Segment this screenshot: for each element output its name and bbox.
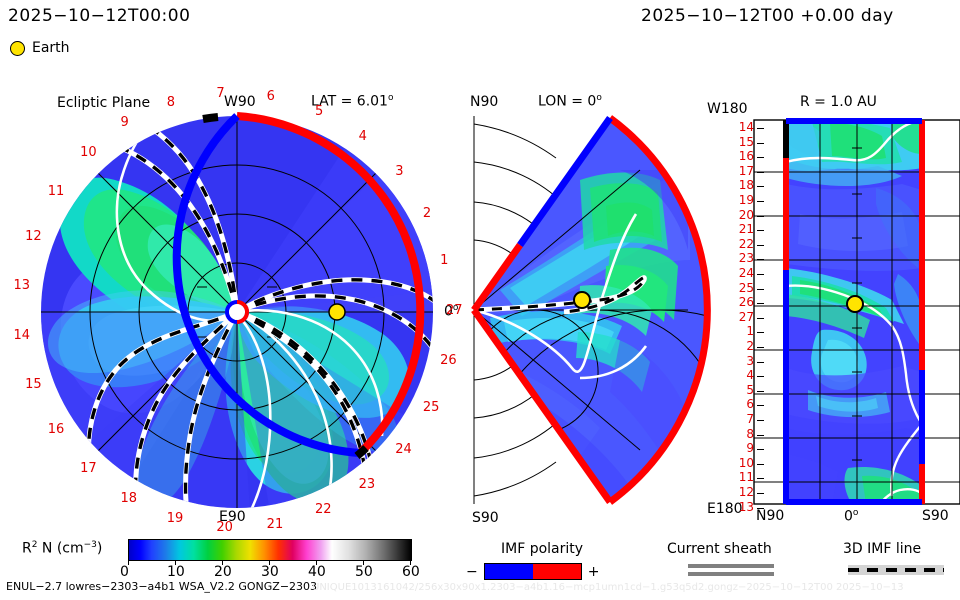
meridional-lon-text: LON = 0 bbox=[538, 94, 596, 110]
imf-minus-label: − bbox=[466, 564, 478, 580]
au-map-y-tick bbox=[757, 435, 764, 436]
ecliptic-plot bbox=[20, 100, 460, 520]
colorbar-tick-label-20: 20 bbox=[214, 564, 232, 580]
au-map-y-label-16: 16 bbox=[739, 149, 754, 163]
colorbar-label-r: R bbox=[22, 541, 32, 557]
ecliptic-rim-label-17: 17 bbox=[80, 461, 97, 476]
au-map-y-label-27: 27 bbox=[739, 310, 754, 324]
ecliptic-rim-label-14: 14 bbox=[13, 328, 30, 343]
ecliptic-rim-label-22: 22 bbox=[315, 502, 332, 517]
au-map-y-label-13: 13 bbox=[739, 500, 754, 514]
header-timestamp-left: 2025−10−12T00:00 bbox=[8, 6, 190, 26]
au-map-y-tick bbox=[757, 245, 764, 246]
au-map-y-label-14: 14 bbox=[739, 120, 754, 134]
colorbar-tick-label-60: 60 bbox=[402, 564, 420, 580]
au-map-y-tick bbox=[757, 362, 764, 363]
ecliptic-rim-label-18: 18 bbox=[121, 491, 138, 506]
ecliptic-rim-label-6: 6 bbox=[267, 89, 275, 104]
ecliptic-rim-label-15: 15 bbox=[25, 377, 42, 392]
ecliptic-rim-label-2: 2 bbox=[423, 206, 431, 221]
imf-plus-label: + bbox=[588, 564, 600, 580]
au-map-y-tick bbox=[757, 318, 764, 319]
meridional-plot bbox=[460, 110, 690, 510]
au-map-y-label-1: 1 bbox=[746, 324, 754, 338]
imf-polarity-legend: − + bbox=[466, 563, 599, 580]
imf-line-legend-dash bbox=[848, 568, 944, 572]
au-map-plot bbox=[752, 118, 960, 506]
earth-marker bbox=[847, 296, 863, 312]
ecliptic-rim-label-10: 10 bbox=[80, 145, 97, 160]
colorbar-tick-label-0: 0 bbox=[120, 564, 129, 580]
footer-model-string: ENUL−2.7 lowres−2303−a4b1 WSA_V2.2 GONGZ… bbox=[6, 580, 317, 593]
au-map-y-label-6: 6 bbox=[746, 397, 754, 411]
au-map-y-tick bbox=[757, 172, 764, 173]
current-sheath-legend-title: Current sheath bbox=[667, 541, 772, 557]
au-map-y-tick bbox=[757, 143, 764, 144]
au-map-y-label-22: 22 bbox=[739, 237, 754, 251]
au-map-y-label-4: 4 bbox=[746, 368, 754, 382]
au-map-y-tick bbox=[757, 493, 764, 494]
degree-sup: o bbox=[853, 508, 859, 518]
au-map-y-tick bbox=[757, 420, 764, 421]
au-map-y-label-26: 26 bbox=[739, 295, 754, 309]
ecliptic-rim-label-16: 16 bbox=[48, 422, 65, 437]
ecliptic-rim-label-21: 21 bbox=[267, 517, 284, 532]
ecliptic-rim-label-23: 23 bbox=[359, 477, 376, 492]
ecliptic-rim-label-20: 20 bbox=[216, 520, 233, 535]
ecliptic-rim-label-8: 8 bbox=[167, 95, 175, 110]
imf-polarity-legend-title: IMF polarity bbox=[501, 541, 583, 557]
au-map-y-label-2: 2 bbox=[746, 339, 754, 353]
imf-line-legend-swatch bbox=[848, 565, 944, 575]
au-map-y-tick bbox=[757, 332, 764, 333]
meridional-top-label: N90 bbox=[470, 94, 498, 110]
ecliptic-rim-label-24: 24 bbox=[395, 442, 412, 457]
ecliptic-rim-label-19: 19 bbox=[167, 511, 184, 526]
ecliptic-rim-label-1: 1 bbox=[440, 253, 448, 268]
au-map-y-label-21: 21 bbox=[739, 222, 754, 236]
colorbar-tick-label-10: 10 bbox=[167, 564, 185, 580]
ecliptic-rim-label-11: 11 bbox=[48, 184, 65, 199]
colorbar-label-exp2: −3 bbox=[84, 540, 97, 550]
au-map-y-label-25: 25 bbox=[739, 281, 754, 295]
au-map-y-tick bbox=[757, 405, 764, 406]
au-map-y-tick bbox=[757, 259, 764, 260]
au-map-x-label-n90: N90 bbox=[756, 508, 784, 524]
au-map-y-tick bbox=[757, 186, 764, 187]
au-map-y-tick bbox=[757, 128, 764, 129]
au-map-y-tick bbox=[757, 347, 764, 348]
imf-polarity-bar bbox=[484, 563, 582, 580]
ecliptic-rim-label-12: 12 bbox=[25, 229, 42, 244]
colorbar-tick-label-40: 40 bbox=[308, 564, 326, 580]
au-map-title: R = 1.0 AU bbox=[800, 94, 877, 110]
au-map-y-tick bbox=[757, 274, 764, 275]
earth-marker bbox=[329, 304, 345, 320]
colorbar-ticks: 0102030405060 bbox=[128, 560, 412, 576]
au-map-y-label-9: 9 bbox=[746, 441, 754, 455]
au-map-y-tick bbox=[757, 303, 764, 304]
au-map-y-label-19: 19 bbox=[739, 193, 754, 207]
au-map-y-label-7: 7 bbox=[746, 412, 754, 426]
ecliptic-rim-label-4: 4 bbox=[359, 129, 367, 144]
colorbar-tick-label-30: 30 bbox=[261, 564, 279, 580]
au-map-y-label-17: 17 bbox=[739, 164, 754, 178]
meridional-lon-annotation: LON = 0o bbox=[538, 93, 602, 110]
au-map-y-label-5: 5 bbox=[746, 383, 754, 397]
earth-marker bbox=[574, 292, 590, 308]
au-map-y-label-12: 12 bbox=[739, 485, 754, 499]
au-map-y-label-3: 3 bbox=[746, 354, 754, 368]
au-map-y-tick bbox=[757, 157, 764, 158]
ecliptic-rim-label-13: 13 bbox=[13, 278, 30, 293]
au-map-y-tick bbox=[757, 201, 764, 202]
meridional-bottom-label: S90 bbox=[472, 510, 499, 526]
earth-legend: Earth bbox=[10, 40, 70, 56]
au-map-y-tick bbox=[757, 289, 764, 290]
au-map-y-label-11: 11 bbox=[739, 470, 754, 484]
colorbar bbox=[128, 539, 412, 561]
au-map-y-label-10: 10 bbox=[739, 456, 754, 470]
ecliptic-rim-label-5: 5 bbox=[315, 104, 323, 119]
au-map-y-labels: 1415161718192021222324252627123456789101… bbox=[726, 112, 756, 512]
colorbar-label: R2 N (cm−3) bbox=[22, 540, 102, 557]
colorbar-label-close: ) bbox=[97, 541, 102, 557]
au-map-y-tick bbox=[757, 230, 764, 231]
au-map-y-label-23: 23 bbox=[739, 251, 754, 265]
header-timestamp-right: 2025−10−12T00 +0.00 day bbox=[641, 6, 894, 26]
au-map-y-label-15: 15 bbox=[739, 135, 754, 149]
au-map-y-tick bbox=[757, 464, 764, 465]
earth-legend-label: Earth bbox=[32, 40, 70, 56]
ecliptic-rim-label-9: 9 bbox=[121, 115, 129, 130]
footer-watermark: UNIQUE1013161042/256x30x90x1.2303−a4b1.1… bbox=[312, 582, 904, 593]
au-map-y-label-18: 18 bbox=[739, 178, 754, 192]
colorbar-tick-label-50: 50 bbox=[355, 564, 373, 580]
ecliptic-rim-label-26: 26 bbox=[440, 353, 457, 368]
au-map-y-tick bbox=[757, 391, 764, 392]
au-map-x-label-zero: 0o bbox=[844, 508, 858, 525]
au-map-y-tick bbox=[757, 449, 764, 450]
ecliptic-rim-label-7: 7 bbox=[216, 86, 224, 101]
degree-sup: o bbox=[596, 93, 602, 103]
imf-line-legend-title: 3D IMF line bbox=[843, 541, 921, 557]
au-map-y-tick bbox=[757, 216, 764, 217]
au-map-y-label-20: 20 bbox=[739, 208, 754, 222]
au-map-y-label-8: 8 bbox=[746, 427, 754, 441]
earth-icon bbox=[10, 41, 25, 56]
au-map-x-label-s90: S90 bbox=[922, 508, 949, 524]
colorbar-label-rest: N (cm bbox=[37, 541, 83, 557]
au-map-y-tick bbox=[757, 376, 764, 377]
au-map-y-label-24: 24 bbox=[739, 266, 754, 280]
ecliptic-rim-label-25: 25 bbox=[423, 400, 440, 415]
ecliptic-rim-label-3: 3 bbox=[395, 164, 403, 179]
current-sheath-legend-swatch bbox=[688, 564, 774, 576]
au-map-y-tick bbox=[757, 478, 764, 479]
